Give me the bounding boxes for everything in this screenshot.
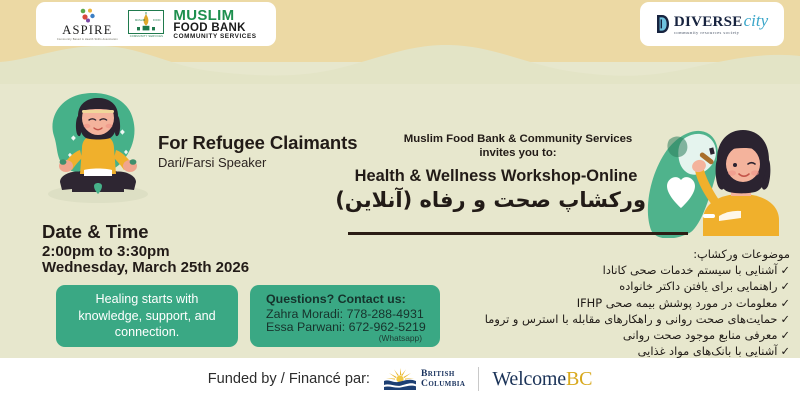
audience-subheading: Dari/Farsi Speaker bbox=[158, 155, 266, 170]
healing-quote-text: Healing starts with knowledge, support, … bbox=[56, 291, 238, 341]
welcomebc-word: Welcome bbox=[492, 368, 566, 390]
topic-item-label: معرفی منابع موجود صحت روانی bbox=[623, 328, 778, 342]
poster-canvas: ASPIRE Community Based & Health Skills A… bbox=[0, 0, 800, 400]
topic-item-label: آشنایی با بانک‌های مواد غذایی bbox=[638, 344, 778, 358]
hills-decoration bbox=[0, 44, 800, 84]
healing-quote-box: Healing starts with knowledge, support, … bbox=[56, 285, 238, 347]
aspire-mark-icon bbox=[79, 8, 96, 23]
check-icon: ✓ bbox=[780, 295, 790, 311]
topic-item: ✓معلومات در مورد پوشش بیمه صحی IFHP bbox=[370, 295, 790, 311]
bc-word-columbia: Columbia bbox=[421, 379, 465, 389]
aspire-tagline: Community Based & Health Skills Associat… bbox=[57, 38, 118, 41]
topic-item-label: حمایت‌های صحت روانی و راهکارهای مقابله ب… bbox=[485, 312, 778, 326]
diversecity-word-accent: city bbox=[744, 12, 769, 29]
welcomebc-accent: BC bbox=[566, 368, 592, 390]
footer-band: Funded by / Financé par: British Columbi… bbox=[0, 358, 800, 400]
topic-item: ✓راهنمایی برای یافتن داکتر خانواده bbox=[370, 278, 790, 294]
topic-item: ✓آشنایی با بانک‌های مواد غذایی bbox=[370, 343, 790, 359]
mfb-mosque-icon: MUSLIM FOOD bbox=[129, 11, 163, 33]
mfb-badge-sublabel: COMMUNITY SERVICES bbox=[130, 35, 163, 38]
diversecity-word-main: DIVERSE bbox=[674, 15, 743, 30]
audience-heading: For Refugee Claimants bbox=[158, 132, 357, 154]
woman-drawing-illustration bbox=[645, 120, 795, 238]
check-icon: ✓ bbox=[780, 311, 790, 327]
date-time-label: Date & Time bbox=[42, 221, 149, 243]
topic-item: ✓حمایت‌های صحت روانی و راهکارهای مقابله … bbox=[370, 311, 790, 327]
diversecity-mark-icon bbox=[656, 13, 670, 35]
diversecity-tagline: community resources society bbox=[674, 31, 768, 36]
muslim-food-bank-wordmark: MUSLIM FOOD BANK COMMUNITY SERVICES bbox=[173, 8, 256, 41]
topic-item-label: آشنایی با سیستم خدمات صحی کانادا bbox=[603, 263, 778, 277]
partner-logo-card-left: ASPIRE Community Based & Health Skills A… bbox=[36, 2, 276, 46]
svg-text:MUSLIM: MUSLIM bbox=[135, 18, 145, 22]
topic-item-label: راهنمایی برای یافتن داکتر خانواده bbox=[619, 279, 777, 293]
funded-by-label: Funded by / Financé par: bbox=[208, 371, 370, 387]
mfb-line-communityservices: COMMUNITY SERVICES bbox=[173, 34, 256, 40]
date-time-value-time: 2:00pm to 3:30pm bbox=[42, 243, 170, 260]
topics-heading: موضوعات ورکشاپ: bbox=[370, 246, 790, 262]
workshop-title-farsi: ورکشاپ صحت و رفاه (آنلاین) bbox=[346, 188, 646, 212]
aspire-logo: ASPIRE Community Based & Health Skills A… bbox=[55, 8, 119, 41]
partner-logo-card-right: DIVERSE city community resources society bbox=[640, 2, 784, 46]
footer-divider bbox=[478, 367, 479, 391]
check-icon: ✓ bbox=[780, 278, 790, 294]
check-icon: ✓ bbox=[780, 343, 790, 359]
bc-wordmark: British Columbia bbox=[421, 369, 465, 388]
mfb-badge-mark: MUSLIM FOOD COMMUNITY SERVICES bbox=[127, 8, 165, 40]
welcomebc-logo: WelcomeBC bbox=[492, 368, 592, 391]
topic-item: ✓آشنایی با سیستم خدمات صحی کانادا bbox=[370, 262, 790, 278]
topic-item-label: معلومات در مورد پوشش بیمه صحی IFHP bbox=[577, 296, 778, 310]
topics-list: موضوعات ورکشاپ: ✓آشنایی با سیستم خدمات ص… bbox=[370, 246, 790, 359]
invite-line: Muslim Food Bank & Community Services in… bbox=[398, 133, 638, 160]
diversecity-wordmark: DIVERSE city community resources society bbox=[674, 12, 768, 36]
mfb-badge-icon: MUSLIM FOOD bbox=[128, 10, 164, 34]
check-icon: ✓ bbox=[780, 262, 790, 278]
meditating-woman-illustration bbox=[32, 82, 164, 212]
aspire-wordmark: ASPIRE bbox=[62, 24, 112, 37]
workshop-title-english: Health & Wellness Workshop-Online bbox=[346, 167, 646, 186]
topic-item: ✓معرفی منابع موجود صحت روانی bbox=[370, 327, 790, 343]
svg-text:FOOD: FOOD bbox=[153, 18, 161, 22]
british-columbia-logo: British Columbia bbox=[383, 367, 465, 391]
diversecity-logo: DIVERSE city community resources society bbox=[656, 12, 768, 36]
check-icon: ✓ bbox=[780, 327, 790, 343]
mfb-line-muslim: MUSLIM bbox=[173, 8, 256, 23]
topics-items-container: ✓آشنایی با سیستم خدمات صحی کانادا✓راهنما… bbox=[370, 262, 790, 359]
date-time-value-date: Wednesday, March 25th 2026 bbox=[42, 259, 249, 276]
bc-sun-icon bbox=[383, 367, 417, 391]
title-divider bbox=[348, 232, 688, 235]
